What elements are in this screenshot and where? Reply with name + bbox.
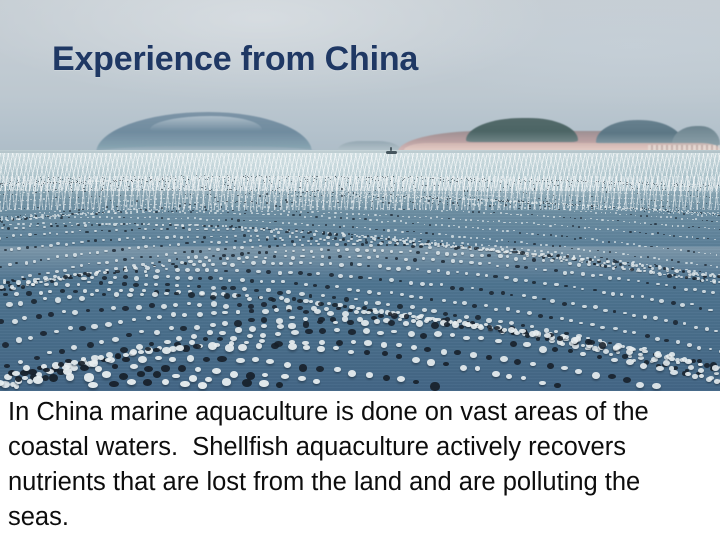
buoy <box>465 219 467 221</box>
buoy <box>656 283 660 286</box>
buoy <box>254 180 255 181</box>
buoy <box>179 211 181 213</box>
buoy <box>399 280 403 283</box>
buoy <box>322 195 323 196</box>
buoy <box>44 212 46 213</box>
buoy <box>387 180 388 181</box>
buoy <box>697 203 698 204</box>
buoy <box>481 186 482 187</box>
buoy <box>386 197 387 198</box>
buoy <box>186 186 187 187</box>
buoy <box>142 195 143 196</box>
buoy <box>658 266 662 269</box>
buoy <box>251 175 252 176</box>
buoy <box>256 213 259 215</box>
buoy <box>549 225 551 227</box>
buoy <box>645 233 647 235</box>
buoy <box>194 202 196 204</box>
buoy <box>232 196 233 197</box>
buoy <box>292 250 295 253</box>
buoy <box>713 275 716 278</box>
buoy <box>578 186 579 187</box>
buoy <box>254 196 255 197</box>
buoy <box>131 185 132 186</box>
buoy <box>603 192 604 193</box>
buoy <box>453 225 455 226</box>
buoy <box>13 201 15 202</box>
buoy <box>239 213 241 215</box>
buoy <box>408 208 410 209</box>
buoy <box>114 181 115 182</box>
buoy <box>126 237 129 239</box>
buoy <box>225 219 227 221</box>
buoy <box>358 177 359 178</box>
buoy <box>18 189 20 190</box>
buoy <box>269 180 270 181</box>
buoy <box>224 184 225 185</box>
buoy <box>710 265 712 267</box>
buoy <box>501 179 502 180</box>
buoy <box>153 229 155 230</box>
buoy <box>701 215 703 217</box>
buoy <box>36 183 37 184</box>
buoy <box>199 250 202 253</box>
buoy <box>54 211 56 212</box>
buoy <box>208 259 211 262</box>
buoy <box>392 202 394 203</box>
buoy <box>657 211 658 212</box>
buoy <box>591 183 592 184</box>
buoy <box>577 205 579 206</box>
buoy <box>157 236 161 238</box>
buoy <box>196 212 198 214</box>
buoy <box>24 208 25 209</box>
buoy <box>571 204 572 205</box>
buoy <box>189 204 191 205</box>
buoy <box>74 216 76 218</box>
buoy <box>69 197 71 198</box>
buoy <box>521 180 522 181</box>
buoy <box>493 205 494 206</box>
buoy <box>222 225 224 226</box>
buoy <box>369 190 371 191</box>
buoy <box>80 253 82 255</box>
buoy <box>386 190 388 191</box>
buoy <box>513 184 514 185</box>
buoy <box>292 190 293 191</box>
buoy <box>545 183 546 184</box>
buoy <box>650 224 652 226</box>
buoy <box>544 206 546 208</box>
buoy <box>413 177 414 178</box>
buoy <box>144 217 146 219</box>
buoy <box>582 207 584 209</box>
buoy <box>34 184 35 185</box>
buoy <box>168 259 171 262</box>
buoy <box>106 216 108 218</box>
buoy <box>677 212 678 213</box>
buoy <box>427 178 428 179</box>
buoy <box>463 247 466 249</box>
buoy <box>262 260 267 263</box>
buoy <box>136 224 139 226</box>
buoy <box>453 182 454 183</box>
buoy <box>408 216 410 218</box>
buoy <box>57 179 58 180</box>
buoy <box>251 246 254 248</box>
buoy <box>386 267 391 271</box>
buoy <box>634 185 635 186</box>
buoy <box>107 211 110 213</box>
buoy <box>437 245 440 247</box>
buoy <box>522 294 526 297</box>
buoy <box>186 197 188 199</box>
buoy <box>163 198 165 199</box>
buoy <box>316 201 318 202</box>
buoy <box>31 179 32 180</box>
buoy <box>194 204 196 206</box>
buoy <box>606 191 607 192</box>
buoy <box>344 206 346 207</box>
buoy <box>139 176 140 177</box>
buoy <box>717 209 718 210</box>
buoy <box>58 278 62 281</box>
buoy <box>524 279 528 282</box>
buoy <box>570 217 572 218</box>
buoy <box>506 181 507 182</box>
buoy <box>52 186 53 187</box>
buoy <box>262 221 264 223</box>
buoy <box>24 218 27 220</box>
buoy <box>712 187 713 188</box>
buoy <box>550 234 552 236</box>
buoy <box>527 311 532 315</box>
buoy <box>247 206 249 208</box>
buoy <box>113 183 114 184</box>
buoy <box>463 199 465 201</box>
buoy <box>145 204 147 205</box>
buoy <box>183 251 186 253</box>
buoy <box>383 229 386 231</box>
buoy <box>397 191 398 192</box>
buoy <box>153 207 155 209</box>
buoy <box>160 198 162 199</box>
buoy <box>607 220 609 222</box>
buoy <box>651 233 654 235</box>
buoy <box>345 189 346 190</box>
buoy <box>410 191 411 192</box>
buoy <box>400 192 401 193</box>
buoy <box>302 236 305 238</box>
buoy <box>336 177 337 178</box>
buoy <box>26 183 27 184</box>
buoy <box>668 186 669 187</box>
buoy <box>126 223 128 225</box>
buoy <box>235 269 239 272</box>
buoy <box>492 179 493 180</box>
buoy <box>613 327 618 330</box>
buoy <box>304 216 307 218</box>
buoy <box>457 202 459 203</box>
buoy <box>665 186 666 187</box>
buoy <box>655 194 656 195</box>
buoy <box>221 286 227 290</box>
buoy <box>196 197 198 199</box>
buoy <box>224 270 228 273</box>
buoy <box>259 188 260 189</box>
buoy <box>167 176 168 177</box>
buoy <box>686 236 689 238</box>
buoy <box>139 186 141 187</box>
buoy <box>219 179 220 180</box>
buoy <box>299 214 301 216</box>
buoy <box>21 189 23 190</box>
buoy <box>647 189 648 190</box>
buoy <box>219 257 222 260</box>
buoy <box>121 205 123 206</box>
buoy <box>680 186 681 187</box>
buoy <box>416 251 420 254</box>
buoy <box>569 319 573 322</box>
buoy <box>319 181 320 182</box>
buoy <box>333 185 334 186</box>
buoy <box>218 219 220 221</box>
buoy <box>315 216 318 218</box>
buoy <box>362 190 363 191</box>
buoy <box>634 193 635 194</box>
buoy <box>307 273 312 276</box>
buoy <box>491 181 492 182</box>
buoy <box>622 208 624 210</box>
buoy <box>333 206 335 208</box>
buoy <box>55 189 56 190</box>
buoy <box>300 196 302 198</box>
buoy <box>524 266 528 269</box>
buoy <box>9 200 10 201</box>
buoy <box>378 182 379 183</box>
buoy <box>602 196 603 197</box>
buoy <box>442 299 446 302</box>
buoy <box>184 262 187 265</box>
buoy <box>119 201 120 202</box>
buoy <box>605 197 606 198</box>
buoy <box>710 203 711 204</box>
buoy <box>202 190 203 191</box>
buoy <box>219 187 220 188</box>
buoy <box>206 177 207 178</box>
buoy <box>359 218 361 220</box>
buoy <box>542 298 546 301</box>
buoy <box>9 186 10 187</box>
buoy <box>285 250 288 252</box>
buoy <box>276 186 277 187</box>
buoy <box>194 255 198 258</box>
buoy <box>238 182 239 183</box>
buoy <box>509 222 511 223</box>
buoy <box>178 198 180 199</box>
buoy <box>500 180 501 181</box>
buoy <box>44 179 45 180</box>
buoy <box>526 180 527 181</box>
buoy <box>573 207 574 208</box>
buoy <box>656 216 658 217</box>
buoy <box>288 271 293 274</box>
buoy <box>521 200 522 201</box>
buoy <box>250 235 252 237</box>
buoy <box>137 246 140 248</box>
buoy <box>420 282 425 286</box>
buoy <box>182 184 183 185</box>
buoy <box>48 177 49 178</box>
buoy <box>97 183 98 184</box>
buoy <box>394 183 395 184</box>
buoy <box>671 259 674 261</box>
buoy <box>561 252 563 254</box>
buoy <box>543 224 545 225</box>
buoy <box>265 251 268 254</box>
buoy <box>129 223 131 225</box>
buoy <box>528 179 529 180</box>
buoy <box>558 209 560 210</box>
buoy <box>657 232 660 234</box>
buoy <box>457 178 458 179</box>
buoy <box>286 187 288 188</box>
buoy <box>46 179 47 180</box>
buoy <box>644 194 645 195</box>
buoy <box>488 262 491 264</box>
buoy <box>583 181 584 182</box>
buoy <box>543 189 544 190</box>
buoy <box>694 187 695 188</box>
buoy <box>29 225 31 227</box>
buoy <box>149 237 152 239</box>
buoy <box>571 248 573 249</box>
buoy <box>406 266 411 270</box>
buoy <box>533 203 534 204</box>
buoy <box>226 257 230 260</box>
buoy <box>410 305 415 309</box>
buoy <box>590 186 591 187</box>
buoy <box>560 317 564 321</box>
buoy <box>704 227 706 228</box>
buoy <box>353 192 355 193</box>
buoy <box>305 176 306 177</box>
buoy <box>14 209 15 210</box>
buoy <box>87 217 89 218</box>
buoy <box>397 304 403 309</box>
buoy <box>217 241 221 244</box>
buoy <box>710 213 711 214</box>
buoy <box>268 195 270 196</box>
buoy <box>588 227 590 228</box>
buoy <box>567 206 569 208</box>
buoy <box>518 208 520 210</box>
buoy <box>125 186 126 187</box>
buoy <box>580 183 581 184</box>
buoy <box>556 257 558 259</box>
buoy <box>371 207 373 208</box>
buoy <box>636 184 637 185</box>
buoy <box>80 217 82 219</box>
buoy <box>147 224 149 226</box>
buoy <box>142 186 143 187</box>
buoy <box>690 262 693 264</box>
buoy <box>230 263 235 267</box>
buoy <box>483 238 485 240</box>
buoy <box>239 190 240 191</box>
buoy <box>453 204 455 205</box>
buoy <box>535 193 536 194</box>
buoy <box>507 184 508 185</box>
buoy <box>342 234 345 237</box>
buoy <box>185 176 186 177</box>
buoy <box>568 181 569 182</box>
buoy <box>465 272 469 275</box>
buoy <box>63 188 64 189</box>
buoy <box>409 195 410 196</box>
buoy <box>403 244 406 246</box>
buoy <box>364 218 367 220</box>
buoy <box>718 191 719 192</box>
buoy <box>32 192 34 193</box>
buoy <box>91 224 94 226</box>
buoy <box>138 189 140 190</box>
buoy <box>23 192 25 193</box>
buoy <box>341 188 342 189</box>
buoy <box>419 217 421 218</box>
buoy <box>614 198 615 199</box>
buoy <box>476 195 477 196</box>
buoy <box>221 182 222 183</box>
buoy <box>299 261 303 264</box>
buoy <box>656 246 658 248</box>
buoy <box>660 216 662 218</box>
buoy <box>422 177 423 178</box>
buoy <box>705 184 706 185</box>
buoy <box>85 231 88 233</box>
buoy <box>137 180 138 181</box>
buoy <box>308 191 309 192</box>
buoy <box>342 199 344 200</box>
buoy <box>167 194 169 195</box>
buoy <box>196 236 200 238</box>
buoy <box>641 184 642 185</box>
buoy <box>556 190 557 191</box>
buoy <box>670 209 671 210</box>
buoy <box>162 181 163 182</box>
buoy <box>478 262 482 266</box>
buoy <box>310 181 311 182</box>
buoy <box>126 176 127 177</box>
buoy <box>35 217 37 218</box>
buoy <box>579 237 581 239</box>
buoy <box>158 261 161 264</box>
buoy <box>671 186 672 187</box>
buoy <box>5 186 6 187</box>
buoy <box>165 268 168 270</box>
buoy <box>232 182 233 183</box>
buoy <box>387 238 390 240</box>
buoy <box>388 241 392 244</box>
buoy <box>288 179 289 180</box>
buoy <box>344 177 345 178</box>
buoy <box>309 294 313 297</box>
buoy <box>220 185 221 186</box>
buoy <box>487 178 488 179</box>
buoy <box>431 193 432 194</box>
buoy <box>206 219 209 221</box>
buoy <box>279 180 280 181</box>
